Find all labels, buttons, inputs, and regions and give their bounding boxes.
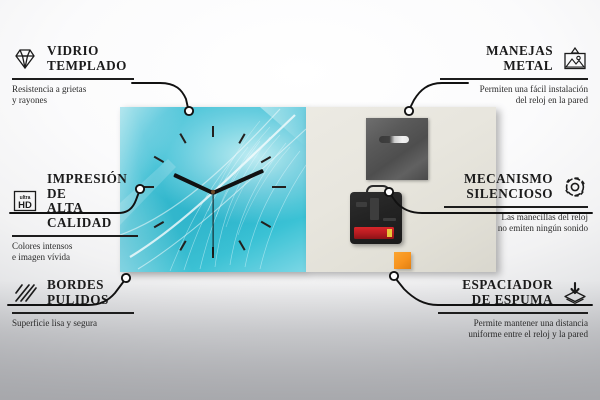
feature-rule	[444, 206, 588, 207]
feature-bordes-pulidos: BORDES PULIDOS Superficie lisa y segura	[12, 278, 134, 329]
battery-terminal	[387, 229, 392, 237]
feature-description: Las manecillas del reloj no emiten ningú…	[444, 212, 588, 235]
mechanism-detail-c	[383, 218, 396, 221]
mechanism-hanging-loop	[366, 185, 390, 199]
polished-edges-icon	[12, 281, 38, 305]
second-hand	[212, 193, 213, 255]
feature-rule	[440, 78, 588, 79]
hour-tick-3	[272, 186, 286, 188]
feature-impresion-alta-calidad: ultra HD IMPRESIÓN DE ALTA CALIDAD Color…	[12, 172, 138, 263]
feature-title: MECANISMO SILENCIOSO	[464, 172, 553, 201]
feature-vidrio-templado: VIDRIO TEMPLADO Resistencia a grietas y …	[12, 44, 134, 106]
hour-tick-2	[261, 156, 271, 163]
feature-description: Permite mantener una distancia uniforme …	[438, 318, 588, 341]
hanger-keyhole-slot	[379, 136, 409, 143]
feature-mecanismo-silencioso: MECANISMO SILENCIOSO Las manecillas del …	[444, 172, 588, 234]
hour-tick-1	[238, 133, 245, 143]
svg-text:HD: HD	[18, 200, 32, 211]
leader-dot-espaciador	[390, 272, 398, 280]
metal-hanger-plate	[366, 118, 428, 180]
feature-title: ESPACIADOR DE ESPUMA	[462, 278, 553, 307]
foam-spacer	[394, 252, 411, 269]
hour-tick-4	[261, 221, 271, 228]
feature-espaciador-espuma: ESPACIADOR DE ESPUMA Permite mantener un…	[438, 278, 588, 340]
feature-description: Permiten una fácil instalación del reloj…	[440, 84, 588, 107]
feature-title: IMPRESIÓN DE ALTA CALIDAD	[47, 172, 138, 230]
quartz-mechanism	[350, 192, 402, 244]
feature-title: MANEJAS METAL	[486, 44, 553, 73]
mechanism-detail-b	[356, 202, 367, 207]
clock-center-pin	[211, 190, 215, 194]
feature-rule	[438, 312, 588, 313]
hour-tick-7	[179, 240, 186, 250]
feature-rule	[12, 235, 138, 236]
mechanism-detail-a	[370, 198, 379, 220]
ultra-hd-icon: ultra HD	[12, 189, 38, 213]
feature-description: Colores intensos e imagen vívida	[12, 241, 138, 264]
hour-tick-8	[154, 221, 164, 228]
feature-rule	[12, 312, 134, 313]
diamond-icon	[12, 47, 38, 71]
minute-hand	[212, 169, 264, 195]
infographic-canvas: VIDRIO TEMPLADO Resistencia a grietas y …	[0, 0, 600, 400]
hour-tick-9	[140, 186, 154, 188]
gear-icon	[562, 175, 588, 199]
feature-title: BORDES PULIDOS	[47, 278, 109, 307]
hour-tick-10	[154, 156, 164, 163]
feature-manejas-metal: MANEJAS METAL Permiten una fácil instala…	[440, 44, 588, 106]
battery	[354, 227, 394, 239]
hour-tick-12	[212, 126, 214, 137]
picture-hanger-icon	[562, 47, 588, 71]
feature-title: VIDRIO TEMPLADO	[47, 44, 127, 73]
foam-spacer-icon	[562, 281, 588, 305]
hour-tick-11	[179, 133, 186, 143]
hour-tick-5	[238, 240, 245, 250]
feature-description: Superficie lisa y segura	[12, 318, 134, 329]
feature-rule	[12, 78, 134, 79]
feature-description: Resistencia a grietas y rayones	[12, 84, 134, 107]
clock-face-panel	[120, 107, 306, 272]
hour-hand	[173, 173, 214, 195]
